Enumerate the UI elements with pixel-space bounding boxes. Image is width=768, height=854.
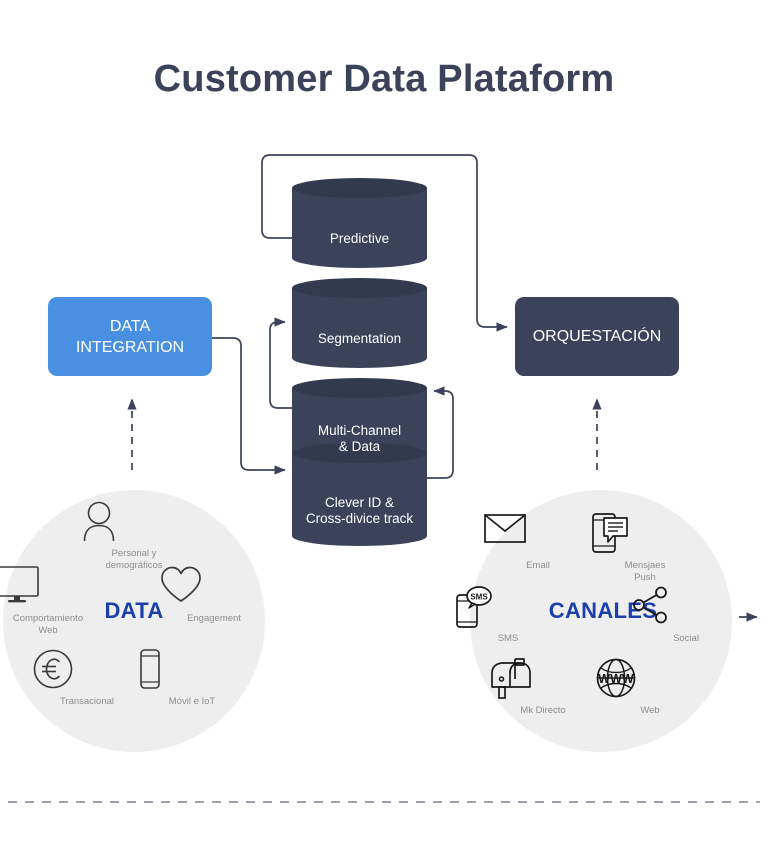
share-social-icon (631, 585, 741, 629)
envelope-icon (483, 512, 593, 556)
cylinder-predictive-label: Predictive (292, 231, 427, 247)
node-web-line1: Web (595, 705, 705, 717)
diagram-canvas: Customer Data Plataform DATA (0, 0, 768, 854)
sms-icon: SMS (453, 585, 563, 629)
node-social-line1: Social (631, 633, 741, 645)
node-sms[interactable]: SMS SMS (453, 585, 563, 645)
node-email[interactable]: Email (483, 512, 593, 572)
connector-cleverid-to-multichannel (427, 391, 453, 478)
node-email-line1: Email (483, 560, 593, 572)
orquestacion-label: ORQUESTACIÓN (533, 326, 662, 347)
node-mensajes-push-line2: Push (590, 572, 700, 584)
node-comportamiento-web-line1: Comportamiento (0, 613, 103, 625)
cylinder-multi-channel-label-line1: Multi-Channel (292, 423, 427, 439)
orquestacion-box[interactable]: ORQUESTACIÓN (515, 297, 679, 376)
node-mensajes-push[interactable]: Mensjaes Push (590, 512, 700, 583)
connector-integration-to-cleverid (212, 338, 285, 470)
node-engagement[interactable]: Engagement (159, 565, 269, 625)
svg-text:SMS: SMS (470, 593, 488, 602)
node-transacional[interactable]: Transacional (32, 648, 142, 708)
data-integration-label-line1: DATA (76, 316, 184, 337)
cylinder-clever-id-label-line1: Clever ID & (292, 495, 427, 511)
monitor-icon (0, 565, 103, 609)
heart-icon (159, 565, 269, 609)
node-mk-directo[interactable]: Mk Directo (488, 657, 598, 717)
cylinder-segmentation[interactable]: Segmentation (292, 278, 427, 378)
svg-text:WWW: WWW (598, 672, 634, 686)
page-title: Customer Data Plataform (0, 58, 768, 101)
node-sms-line1: SMS (453, 633, 563, 645)
node-personal-demograficos-line1: Personal y (79, 548, 189, 560)
person-icon (79, 500, 189, 544)
cylinder-predictive[interactable]: Predictive (292, 178, 427, 278)
data-integration-box[interactable]: DATA INTEGRATION (48, 297, 212, 376)
cylinder-clever-id-label-line2: Cross-divice track (292, 511, 427, 527)
push-message-icon (590, 512, 700, 556)
node-transacional-line1: Transacional (32, 696, 142, 708)
globe-www-icon: WWW (595, 657, 705, 701)
cylinder-stack: Predictive Segmentation Multi-Channel & … (292, 178, 427, 513)
node-personal-demograficos[interactable]: Personal y demográficos (79, 500, 189, 571)
node-movil-iot[interactable]: Móvil e IoT (137, 648, 247, 708)
node-mensajes-push-line1: Mensjaes (590, 560, 700, 572)
node-comportamiento-web[interactable]: Comportamiento Web (0, 565, 103, 636)
node-engagement-line1: Engagement (159, 613, 269, 625)
cylinder-multi-channel-label-line2: & Data (292, 439, 427, 455)
connector-multichannel-to-segmentation (270, 322, 292, 408)
cylinder-clever-id[interactable]: Clever ID & Cross-divice track (292, 443, 427, 563)
node-mk-directo-line1: Mk Directo (488, 705, 598, 717)
euro-coin-icon (32, 648, 142, 692)
node-comportamiento-web-line2: Web (0, 625, 103, 637)
mobile-phone-icon (137, 648, 247, 692)
node-web[interactable]: WWW Web (595, 657, 705, 717)
mailbox-icon (488, 657, 598, 701)
node-social[interactable]: Social (631, 585, 741, 645)
cylinder-segmentation-label: Segmentation (292, 331, 427, 347)
data-integration-label-line2: INTEGRATION (76, 337, 184, 358)
node-movil-iot-line1: Móvil e IoT (137, 696, 247, 708)
